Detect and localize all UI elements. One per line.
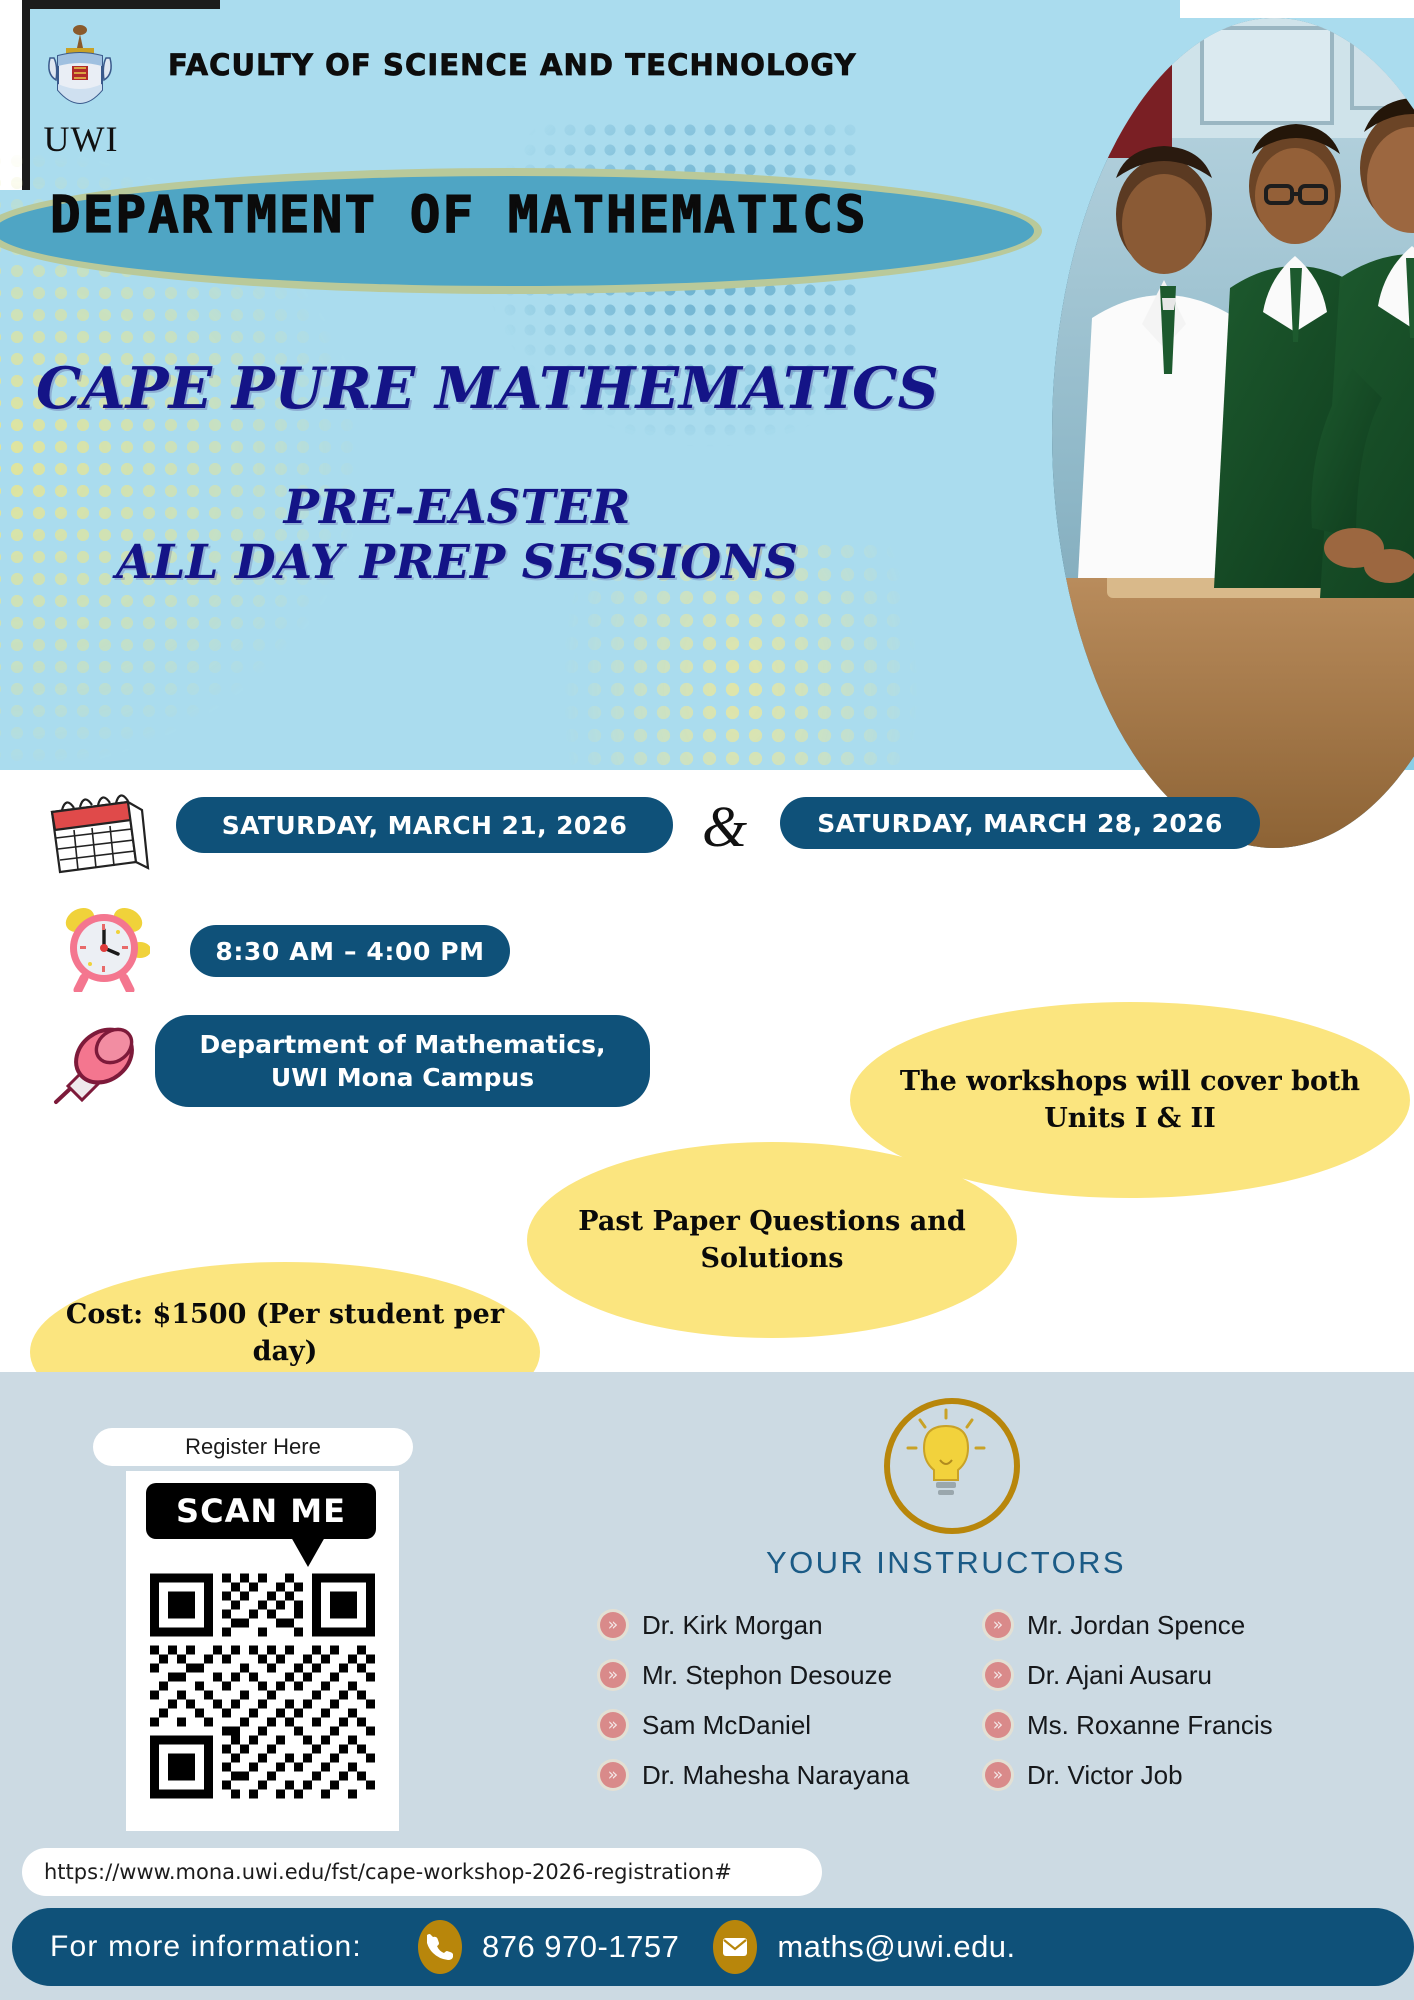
instructors-column-right: » Mr. Jordan Spence » Dr. Ajani Ausaru »… [985, 1600, 1325, 1800]
map-pin-icon [48, 1016, 146, 1108]
callout-units-line2: Units I & II [884, 1100, 1377, 1137]
scan-me-banner: SCAN ME [146, 1483, 376, 1539]
registration-url[interactable]: https://www.mona.uwi.edu/fst/cape-worksh… [22, 1848, 822, 1896]
instructor-name: Mr. Stephon Desouze [642, 1660, 892, 1691]
qr-code-card[interactable]: SCAN ME [126, 1471, 399, 1831]
time-badge: 8:30 AM – 4:00 PM [190, 925, 510, 977]
instructor-name: Mr. Jordan Spence [1027, 1610, 1245, 1641]
phone-number[interactable]: 876 970-1757 [482, 1929, 679, 1965]
list-item: » Dr. Victor Job [985, 1750, 1325, 1800]
list-item: » Dr. Ajani Ausaru [985, 1650, 1325, 1700]
contact-footer: For more information: 876 970-1757 maths… [12, 1908, 1414, 1986]
list-item: » Ms. Roxanne Francis [985, 1700, 1325, 1750]
email-address[interactable]: maths@uwi.edu. [777, 1929, 1015, 1965]
flyer-poster: UWI FACULTY OF SCIENCE AND TECHNOLOGY DE… [0, 0, 1414, 2000]
frame-black-top [30, 0, 220, 9]
callout-units-line1: The workshops will cover both [884, 1063, 1377, 1100]
scan-me-text: SCAN ME [176, 1492, 346, 1530]
instructor-name: Dr. Mahesha Narayana [642, 1760, 909, 1791]
instructor-name: Dr. Kirk Morgan [642, 1610, 823, 1641]
uwi-wordmark: UWI [36, 118, 126, 160]
list-item: » Dr. Mahesha Narayana [600, 1750, 940, 1800]
chevron-right-icon: » [985, 1662, 1011, 1688]
chevron-right-icon: » [985, 1762, 1011, 1788]
chevron-right-icon: » [985, 1612, 1011, 1638]
list-item: » Mr. Stephon Desouze [600, 1650, 940, 1700]
chevron-right-icon: » [600, 1612, 626, 1638]
faculty-title: FACULTY OF SCIENCE AND TECHNOLOGY [168, 48, 857, 82]
list-item: » Dr. Kirk Morgan [600, 1600, 940, 1650]
phone-icon [418, 1920, 462, 1974]
calendar-icon [42, 786, 150, 874]
callout-cost-line1: Cost: $1500 (Per student per day) [61, 1296, 510, 1371]
chevron-right-icon: » [600, 1712, 626, 1738]
event-sub-title-line2: ALL DAY PREP SESSIONS [62, 535, 852, 590]
event-main-title: CAPE PURE MATHEMATICS [36, 355, 939, 422]
ampersand-separator: & [702, 793, 747, 860]
event-sub-title-line1: PRE-EASTER [62, 480, 852, 535]
callout-past-line1: Past Paper Questions and [556, 1203, 987, 1240]
location-line-1: Department of Mathematics, [155, 1028, 650, 1061]
list-item: » Mr. Jordan Spence [985, 1600, 1325, 1650]
department-title: DEPARTMENT OF MATHEMATICS [50, 186, 868, 245]
frame-black-left [22, 0, 30, 190]
list-item: » Sam McDaniel [600, 1700, 940, 1750]
students-photo [1052, 18, 1414, 848]
register-here-label: Register Here [93, 1428, 413, 1466]
location-badge: Department of Mathematics, UWI Mona Camp… [155, 1015, 650, 1107]
callout-past-papers: Past Paper Questions and Solutions [527, 1142, 1017, 1338]
frame-white-right [1180, 0, 1414, 18]
instructors-column-left: » Dr. Kirk Morgan » Mr. Stephon Desouze … [600, 1600, 940, 1800]
event-sub-title: PRE-EASTER ALL DAY PREP SESSIONS [62, 480, 852, 591]
instructors-heading: YOUR INSTRUCTORS [690, 1545, 1202, 1581]
date-badge-2: SATURDAY, MARCH 28, 2026 [780, 797, 1260, 849]
date-badge-1: SATURDAY, MARCH 21, 2026 [176, 797, 673, 853]
chevron-right-icon: » [600, 1762, 626, 1788]
instructor-name: Ms. Roxanne Francis [1027, 1710, 1273, 1741]
lightbulb-icon [884, 1398, 1008, 1522]
instructor-name: Dr. Ajani Ausaru [1027, 1660, 1212, 1691]
qr-code-image[interactable] [150, 1561, 375, 1811]
email-icon [713, 1920, 757, 1974]
callout-past-line2: Solutions [556, 1240, 987, 1277]
location-line-2: UWI Mona Campus [155, 1061, 650, 1094]
footer-label: For more information: [50, 1930, 362, 1964]
instructor-name: Sam McDaniel [642, 1710, 811, 1741]
instructor-name: Dr. Victor Job [1027, 1760, 1183, 1791]
frame-white-left [0, 0, 22, 190]
alarm-clock-icon [58, 900, 150, 992]
chevron-right-icon: » [985, 1712, 1011, 1738]
chevron-right-icon: » [600, 1662, 626, 1688]
